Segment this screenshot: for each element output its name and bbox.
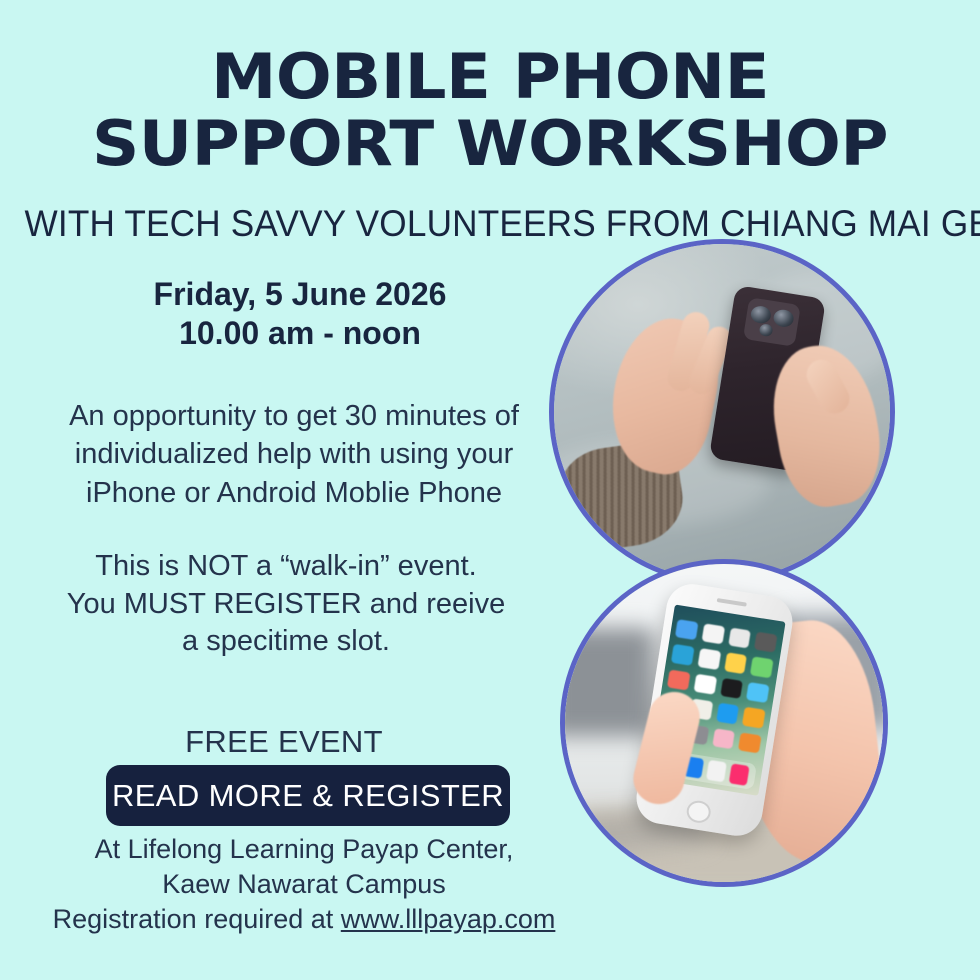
camera-lens-icon [749, 305, 771, 325]
app-icon [716, 703, 739, 724]
blurred-monitor [560, 628, 654, 736]
app-icon [671, 645, 694, 666]
photo-person-using-smartphone [549, 239, 895, 585]
app-icon [693, 674, 716, 695]
read-more-register-button[interactable]: READ MORE & REGISTER [106, 765, 510, 826]
app-icon [746, 682, 769, 703]
registration-url-link[interactable]: www.lllpayap.com [341, 904, 556, 934]
note-line-1: This is NOT a “walk-in” event. [36, 548, 536, 586]
footer-info: At Lifelong Learning Payap Center, Kaew … [34, 832, 574, 937]
app-icon [697, 649, 720, 670]
description-line-2: individualized help with using your [34, 435, 554, 473]
description-line-3: iPhone or Android Moblie Phone [34, 474, 554, 512]
subtitle: WITH TECH SAVVY VOLUNTEERS FROM CHIANG M… [25, 203, 956, 245]
app-icon [712, 728, 735, 749]
event-datetime: Friday, 5 June 2026 10.00 am - noon [0, 275, 600, 353]
page-title: MOBILE PHONE SUPPORT WORKSHOP [0, 44, 980, 178]
title-line-1: MOBILE PHONE [0, 44, 980, 111]
earpiece-speaker [716, 598, 747, 607]
app-icon [675, 620, 698, 641]
app-icon [754, 632, 777, 653]
app-icon [701, 624, 724, 645]
venue-line-2: Kaew Nawarat Campus [34, 867, 574, 902]
camera-lens-icon [772, 309, 794, 329]
free-event-label: FREE EVENT [34, 723, 534, 760]
music-app-icon [729, 764, 749, 786]
app-icon [667, 670, 690, 691]
event-date: Friday, 5 June 2026 [0, 275, 600, 314]
description-line-1: An opportunity to get 30 minutes of [34, 397, 554, 435]
venue-line-1: At Lifelong Learning Payap Center, [34, 832, 574, 867]
home-button [685, 800, 713, 826]
app-icon [738, 733, 761, 754]
registration-prefix: Registration required at [53, 904, 341, 934]
camera-flash-icon [759, 323, 773, 337]
camera-module [742, 298, 801, 348]
event-time: 10.00 am - noon [0, 314, 600, 353]
note-line-3: a specitime slot. [36, 623, 536, 661]
app-icon [728, 628, 751, 649]
app-icon [742, 708, 765, 729]
app-icon [720, 678, 743, 699]
content-column: Friday, 5 June 2026 10.00 am - noon An o… [0, 275, 600, 803]
photo-hand-holding-iphone [560, 559, 888, 887]
messages-app-icon [706, 760, 726, 782]
app-icon [724, 653, 747, 674]
note-line-2: You MUST REGISTER and reeive [36, 586, 536, 624]
registration-line: Registration required at www.lllpayap.co… [34, 902, 574, 937]
app-icon [750, 657, 773, 678]
event-description: An opportunity to get 30 minutes of indi… [34, 397, 554, 512]
registration-note: This is NOT a “walk-in” event. You MUST … [36, 548, 536, 661]
title-line-2: SUPPORT WORKSHOP [0, 111, 980, 178]
flyer-poster: MOBILE PHONE SUPPORT WORKSHOP WITH TECH … [0, 0, 980, 980]
